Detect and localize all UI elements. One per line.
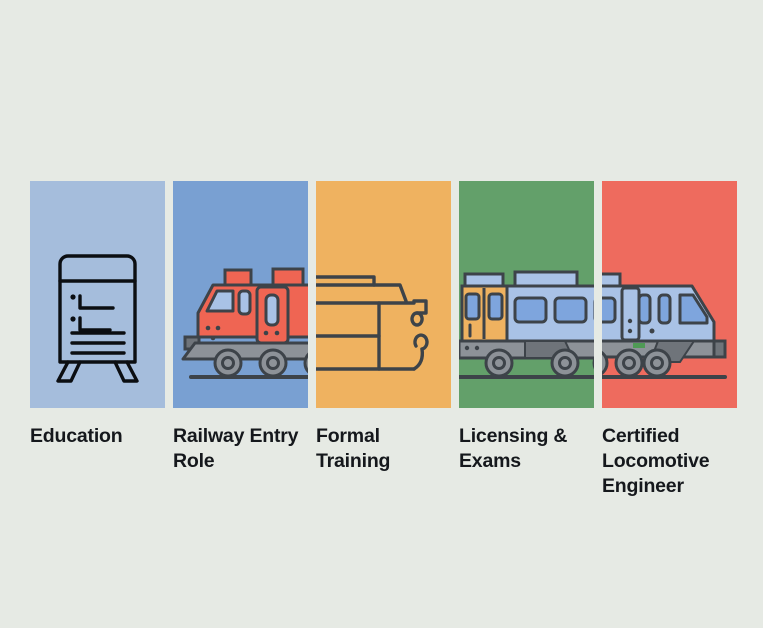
step-label-railway-entry-role: Railway Entry Role	[173, 424, 308, 534]
document-board-icon	[30, 181, 165, 408]
step-label-formal-training: Formal Training	[316, 424, 451, 534]
red-locomotive-icon	[173, 181, 308, 408]
panel-licensing-exams[interactable]	[459, 181, 594, 408]
labels-row: Education Railway Entry Role Formal Trai…	[30, 424, 747, 534]
step-label-education: Education	[30, 424, 165, 534]
blue-train-cab-icon	[602, 181, 737, 408]
train-rear-coupling-icon	[316, 181, 451, 408]
panel-certified-locomotive-engineer[interactable]	[602, 181, 737, 408]
passenger-car-icon	[459, 181, 594, 408]
step-label-licensing-exams: Licensing & Exams	[459, 424, 594, 534]
infographic-root: Education Railway Entry Role Formal Trai…	[0, 0, 763, 628]
panel-railway-entry-role[interactable]	[173, 181, 308, 408]
panel-education[interactable]	[30, 181, 165, 408]
panels-row	[30, 181, 737, 408]
step-label-certified-locomotive-engineer: Certified Locomotive Engineer	[602, 424, 762, 534]
panel-formal-training[interactable]	[316, 181, 451, 408]
